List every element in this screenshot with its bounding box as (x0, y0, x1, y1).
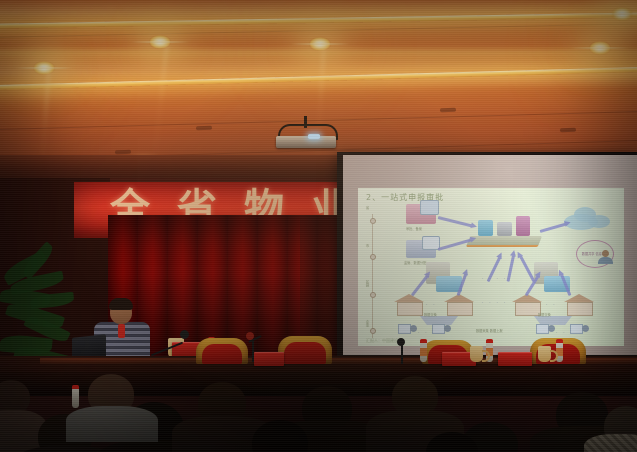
bottle-cap (420, 339, 427, 343)
downlight-2 (33, 61, 55, 75)
audience (0, 372, 637, 452)
slide-sheen (358, 188, 624, 346)
projector-lens (308, 134, 320, 139)
downlight-3 (309, 37, 331, 51)
presenter-tie (118, 324, 125, 338)
head-table-chair-cushion (284, 342, 326, 364)
ceiling-projector (272, 128, 340, 148)
presenter-hair (109, 298, 133, 310)
bottle-cap (556, 339, 563, 343)
ceiling-vent (560, 128, 576, 133)
slide-content: 2、一站式申报审批 省 市 区县 企业 审批、备案 监管、数据分配 数据共享 信… (358, 188, 624, 346)
downlight-5 (611, 7, 633, 21)
conference-hall-photo: 全 省 物 业 作 2、一站式申报审批 省 市 区县 企业 (0, 0, 637, 452)
ceiling-vent (196, 126, 212, 131)
bottle-cap (486, 339, 493, 343)
projector-body (276, 136, 336, 148)
audience-shading (0, 372, 637, 452)
ceiling-vent (440, 108, 456, 113)
table-nameplate (254, 352, 284, 366)
ceiling (0, 0, 637, 175)
table-nameplate (498, 352, 532, 366)
bottle-label (420, 348, 427, 356)
ceiling-vent (115, 150, 131, 155)
head-table-chair-cushion (202, 344, 242, 364)
downlight-4 (589, 41, 611, 55)
